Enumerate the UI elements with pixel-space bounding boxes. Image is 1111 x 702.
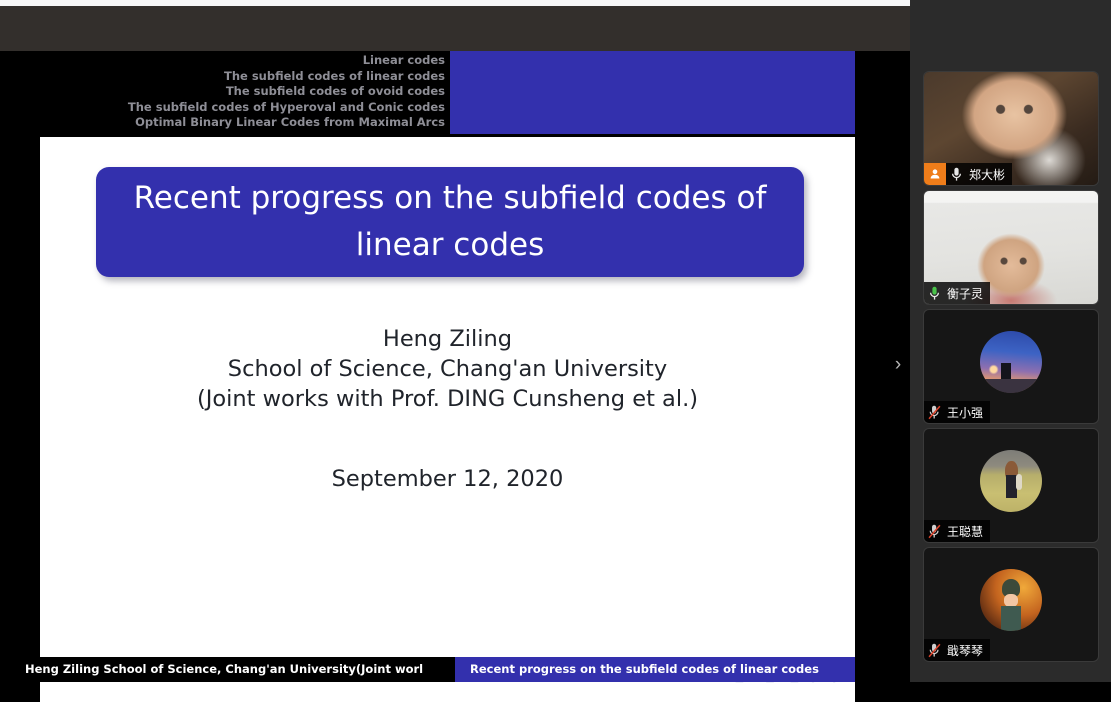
avatar [980,331,1042,393]
screen: Linear codes The subfield codes of linea… [0,0,1111,682]
slide-author-block: Heng Ziling School of Science, Chang'an … [40,324,855,414]
slide-date: September 12, 2020 [40,466,855,492]
shared-presentation: Linear codes The subfield codes of linea… [0,51,910,682]
participant-tile[interactable]: 戢琴琴 [924,548,1098,661]
participant-filmstrip: 郑大彬 衡子灵 [910,0,1111,682]
participant-tile[interactable]: 衡子灵 [924,191,1098,304]
microphone-muted-icon [924,405,945,420]
participant-tile[interactable]: 王小强 [924,310,1098,423]
section-item[interactable]: The subfield codes of ovoid codes [226,84,450,100]
footline-title: Recent progress on the subfield codes of… [455,657,855,682]
participant-name: 王小强 [945,404,983,421]
participant-name: 衡子灵 [945,285,983,302]
section-item[interactable]: The subfield codes of Hyperoval and Coni… [128,100,450,116]
host-icon [924,163,946,185]
participant-name: 戢琴琴 [945,642,983,659]
section-item[interactable]: Optimal Binary Linear Codes from Maximal… [135,115,450,131]
participant-badge: 郑大彬 [924,163,1012,185]
beamer-headline: Linear codes The subfield codes of linea… [0,51,910,134]
beamer-section-list: Linear codes The subfield codes of linea… [0,51,450,134]
microphone-muted-icon [924,524,945,539]
author-name: Heng Ziling [40,324,855,354]
participant-badge: 王聪慧 [924,520,990,542]
participant-badge: 衡子灵 [924,282,990,304]
participant-badge: 王小强 [924,401,990,423]
participant-name: 郑大彬 [967,166,1005,183]
slide-canvas: Recent progress on the subfield codes of… [40,137,855,702]
microphone-icon [924,286,945,301]
participant-badge: 戢琴琴 [924,639,990,661]
participant-tile[interactable]: 郑大彬 [924,72,1098,185]
slide-title-box: Recent progress on the subfield codes of… [96,167,804,277]
avatar [980,450,1042,512]
section-item[interactable]: The subfield codes of linear codes [224,69,450,85]
participant-tile[interactable]: 王聪慧 [924,429,1098,542]
author-affiliation: School of Science, Chang'an University [40,354,855,384]
beamer-headline-fill [450,51,855,134]
microphone-icon [946,167,967,182]
footline-author: Heng Ziling School of Science, Chang'an … [0,657,455,682]
footline-pad [855,657,910,682]
collapse-filmstrip-chevron-icon[interactable]: › [888,352,908,378]
participant-name: 王聪慧 [945,523,983,540]
window-chrome [0,6,910,51]
microphone-muted-icon [924,643,945,658]
avatar [980,569,1042,631]
beamer-headline-pad [855,51,910,134]
section-item[interactable]: Linear codes [363,53,450,69]
beamer-footline: Heng Ziling School of Science, Chang'an … [0,657,910,682]
slide-title: Recent progress on the subfield codes of… [96,175,804,269]
author-joint-note: (Joint works with Prof. DING Cunsheng et… [40,384,855,414]
